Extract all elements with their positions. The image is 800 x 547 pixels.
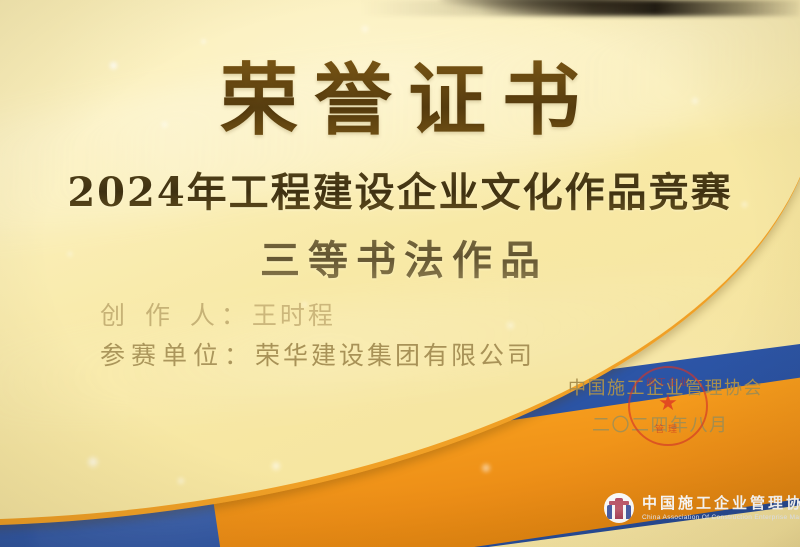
certificate-photo: 荣誉证书 2024年工程建设企业文化作品竞赛 三等书法作品 创 作 人：王时程 … [0,0,800,547]
certificate-content: 荣誉证书 2024年工程建设企业文化作品竞赛 三等书法作品 创 作 人：王时程 … [0,0,800,547]
association-name-en: China Association Of Construction Enterp… [642,514,800,521]
creator-label: 创 作 人： [100,301,252,330]
award-category: 三等书法作品 [0,228,800,286]
association-name-cn: 中国施工企业管理协会 [642,495,800,512]
issuer-organization: 中国施工企业管理协会 [568,374,763,400]
emblem-crossbar [609,501,629,505]
association-logo-text: 中国施工企业管理协会 China Association Of Construc… [642,495,800,522]
creator-value: 王时程 [252,301,336,330]
certificate-title: 荣誉证书 [0,38,800,150]
issuer-block: 中国施工企业管理协会 二〇二四年八月 [568,374,763,437]
emblem-right-wing [626,505,631,519]
entrant-unit-row: 参赛单位：荣华建设集团有限公司 [100,336,535,372]
association-logo: 中国施工企业管理协会 China Association Of Construc… [604,493,800,523]
entrant-unit-value: 荣华建设集团有限公司 [255,341,535,370]
competition-name: 2024年工程建设企业文化作品竞赛 [0,160,800,218]
emblem-left-wing [607,505,612,519]
photo-top-shadow [0,0,800,16]
issue-date: 二〇二四年八月 [592,411,763,437]
association-emblem-icon [604,493,634,523]
entrant-unit-label: 参赛单位： [100,341,255,370]
creator-row: 创 作 人：王时程 [100,296,336,332]
